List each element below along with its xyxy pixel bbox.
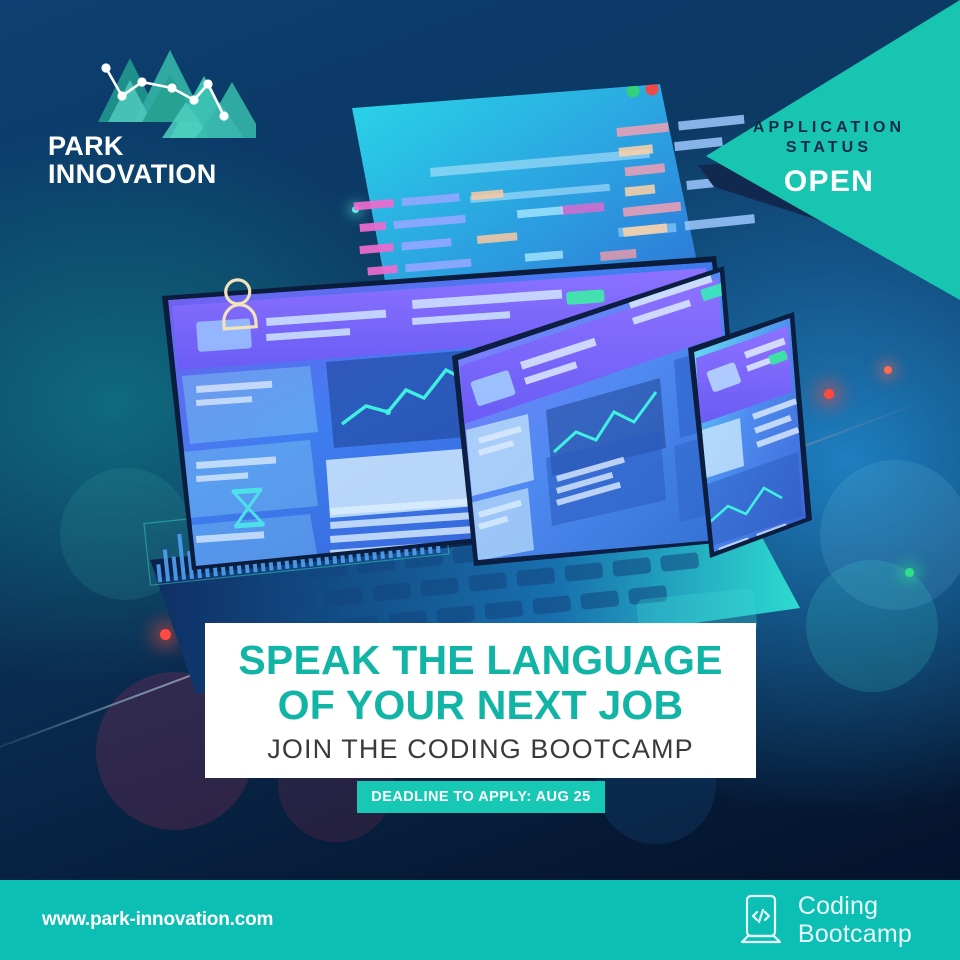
headline-subline: JOIN THE CODING BOOTCAMP bbox=[267, 734, 693, 765]
brand-name-line1: PARK bbox=[48, 132, 217, 160]
triangle-mountains-linechart-icon bbox=[86, 46, 256, 138]
coding-bootcamp-line1: Coding bbox=[798, 892, 912, 920]
headline-line1: SPEAK THE LANGUAGE bbox=[238, 638, 722, 682]
website-url[interactable]: www.park-innovation.com bbox=[42, 909, 273, 931]
application-status-block: APPLICATION STATUS OPEN bbox=[724, 118, 934, 201]
coding-bootcamp-line2: Bootcamp bbox=[798, 920, 912, 948]
headline-card: SPEAK THE LANGUAGE OF YOUR NEXT JOB JOIN… bbox=[205, 623, 756, 778]
footer-bar: www.park-innovation.com Coding Bootcamp bbox=[0, 880, 960, 960]
poster-canvas: PARK INNOVATION APPLICATION STATUS OPEN … bbox=[0, 0, 960, 960]
application-status-label-line1: APPLICATION bbox=[724, 118, 934, 138]
laptop-code-icon bbox=[738, 892, 784, 948]
headline-line2: OF YOUR NEXT JOB bbox=[278, 683, 684, 727]
deadline-badge: DEADLINE TO APPLY: AUG 25 bbox=[357, 781, 605, 813]
coding-bootcamp-label: Coding Bootcamp bbox=[798, 892, 912, 948]
status-badge: OPEN bbox=[724, 163, 934, 201]
brand-name-line2: INNOVATION bbox=[48, 160, 217, 188]
brand-wordmark: PARK INNOVATION bbox=[48, 132, 217, 188]
coding-bootcamp-brand: Coding Bootcamp bbox=[738, 892, 912, 948]
brand-logo: PARK INNOVATION bbox=[44, 46, 294, 176]
application-status-label-line2: STATUS bbox=[724, 138, 934, 158]
